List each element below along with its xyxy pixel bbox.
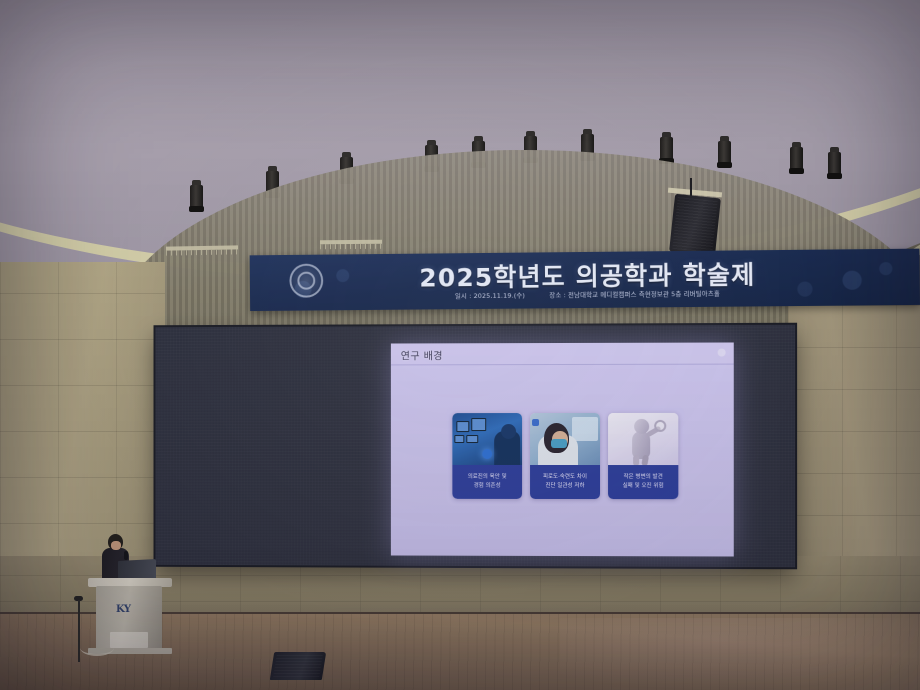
floor-cable — [80, 640, 114, 656]
podium-front-panel — [110, 632, 148, 648]
fatigued-clinician-photo — [530, 413, 600, 465]
stage-monitor-wedge — [270, 652, 326, 680]
slide-card: 의료진의 육안 및 경험 의존성 — [452, 413, 522, 499]
caption-line-2: 경험 의존성 — [474, 482, 501, 490]
slide-cards-panel: 의료진의 육안 및 경험 의존성 피로도·숙련도 차이 진단 일관성 저하 — [446, 406, 684, 506]
slide-card: 피로도·숙련도 차이 진단 일관성 저하 — [530, 413, 600, 499]
presentation-slide: 연구 배경 의료진의 육안 및 경험 의존성 — [391, 342, 734, 556]
microphone-stand — [78, 600, 80, 662]
slide-title: 연구 배경 — [401, 347, 443, 362]
caption-line-1: 의료진의 육안 및 — [468, 474, 507, 482]
figure-with-magnifier-photo — [608, 413, 678, 465]
banner-date: 일시 : 2025.11.19.(수) — [455, 292, 525, 301]
stage-floor-light-reflection — [560, 618, 920, 690]
university-emblem-icon — [289, 264, 323, 298]
caption-line-1: 작은 병변의 발견 — [624, 474, 663, 482]
stone-wall-right — [788, 300, 920, 600]
slide-corner-marker — [718, 349, 726, 357]
slide-header-bar: 연구 배경 — [391, 342, 734, 365]
slide-card-caption: 작은 병변의 발견 실패 및 오진 위험 — [608, 465, 678, 499]
slide-card-caption: 의료진의 육안 및 경험 의존성 — [452, 465, 522, 499]
caption-line-1: 피로도·숙련도 차이 — [543, 474, 587, 482]
caption-line-2: 실패 및 오진 위험 — [623, 483, 664, 491]
slide-card-caption: 피로도·숙련도 차이 진단 일관성 저하 — [530, 465, 600, 499]
auditorium-scene: 2025학년도 의공학과 학술제 일시 : 2025.11.19.(수) 장소 … — [0, 0, 920, 690]
banner-place: 장소 : 전남대학교 메디컬캠퍼스 측현정보관 5층 리버틸아츠홀 — [549, 290, 720, 300]
slide-card: 작은 병변의 발견 실패 및 오진 위험 — [608, 413, 678, 499]
catwalk-rail — [166, 245, 238, 250]
catwalk-rail — [320, 240, 382, 245]
caption-line-2: 진단 일관성 저하 — [545, 482, 584, 490]
center-hanging-speaker — [669, 194, 721, 256]
monitoring-room-photo — [452, 413, 522, 465]
event-banner: 2025학년도 의공학과 학술제 일시 : 2025.11.19.(수) 장소 … — [250, 249, 920, 311]
slide-body: 의료진의 육안 및 경험 의존성 피로도·숙련도 차이 진단 일관성 저하 — [391, 365, 734, 557]
podium-logo: KY — [116, 604, 131, 615]
